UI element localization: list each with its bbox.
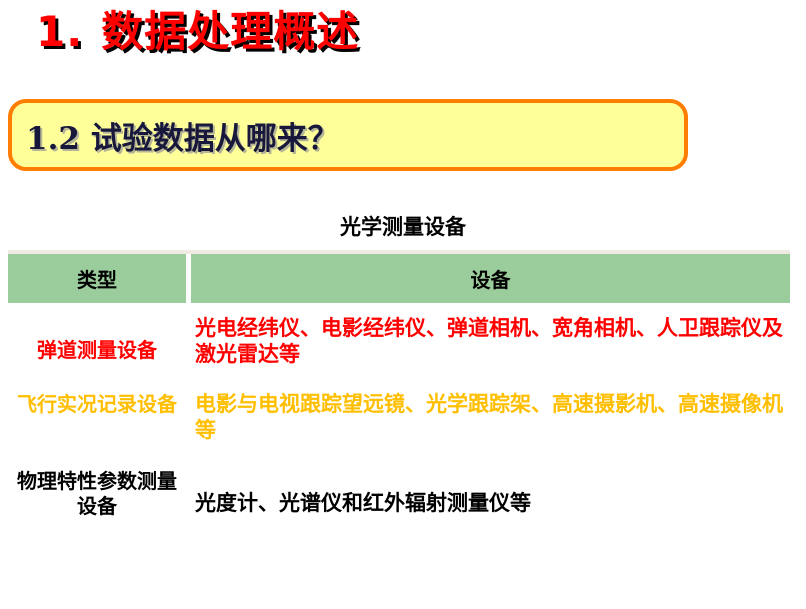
column-header-equipment: 设备	[191, 254, 790, 303]
table-row: 弹道测量设备 光电经纬仪、电影经纬仪、弹道相机、宽角相机、人卫跟踪仪及激光雷达等	[8, 316, 790, 367]
cell-type: 弹道测量设备	[8, 316, 186, 362]
subtitle-callout-box: 1.2 试验数据从哪来？	[8, 99, 688, 171]
table-header-row: 类型 设备	[8, 254, 790, 303]
cell-type: 飞行实况记录设备	[8, 392, 186, 416]
table-caption: 光学测量设备	[0, 211, 806, 241]
cell-type: 物理特性参数测量设备	[8, 469, 186, 518]
page-title-number: 1.	[36, 7, 83, 56]
cell-equipment: 电影与电视跟踪望远镜、光学跟踪架、高速摄影机、高速摄像机等	[191, 392, 790, 443]
cell-equipment: 光度计、光谱仪和红外辐射测量仪等	[191, 469, 790, 517]
table-row: 飞行实况记录设备 电影与电视跟踪望远镜、光学跟踪架、高速摄影机、高速摄像机等	[8, 392, 790, 443]
table-row: 物理特性参数测量设备 光度计、光谱仪和红外辐射测量仪等	[8, 469, 790, 518]
column-header-type: 类型	[8, 254, 186, 303]
subtitle-text: 1.2 试验数据从哪来？	[12, 113, 339, 158]
cell-equipment: 光电经纬仪、电影经纬仪、弹道相机、宽角相机、人卫跟踪仪及激光雷达等	[191, 316, 790, 367]
page-title: 1.数据处理概述	[36, 8, 359, 56]
page-title-text: 数据处理概述	[101, 7, 359, 56]
equipment-table: 类型 设备 弹道测量设备 光电经纬仪、电影经纬仪、弹道相机、宽角相机、人卫跟踪仪…	[8, 250, 790, 518]
